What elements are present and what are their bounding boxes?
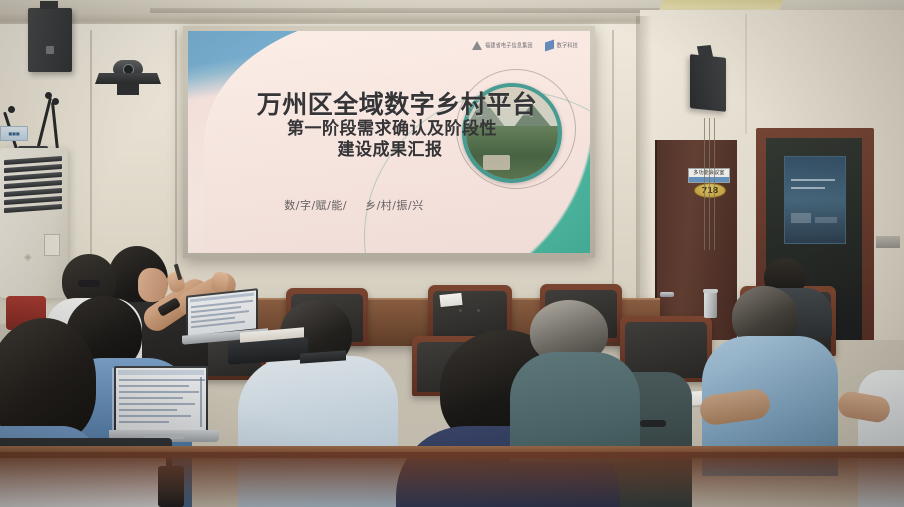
conference-table-front-body xyxy=(0,452,904,507)
triangle-logo-icon xyxy=(472,41,482,50)
phone[interactable] xyxy=(640,420,666,427)
air-conditioner: ◈ xyxy=(0,148,68,298)
wall-poster xyxy=(784,156,846,244)
slide-title-block: 万州区全域数字乡村平台 第一阶段需求确认及阶段性 建设成果汇报 xyxy=(188,91,590,161)
slide-subtitle-line-1: 第一阶段需求确认及阶段性 xyxy=(188,119,590,140)
wall-seam xyxy=(745,14,747,134)
projection-screen: 福建省电子信息集团 数字科技 万州区全域数字乡村平台 第一阶段需求确认及阶段性 … xyxy=(183,26,595,258)
logo-primary-label: 福建省电子信息集团 xyxy=(485,41,533,49)
door-handle[interactable] xyxy=(660,292,674,297)
glasses-icon xyxy=(78,280,100,287)
air-conditioner-logo-icon: ◈ xyxy=(24,252,38,262)
camera-mount xyxy=(117,83,139,95)
logo-secondary: 数字科技 xyxy=(545,41,578,50)
video-conference-camera xyxy=(95,60,161,92)
wall-switch-plate[interactable] xyxy=(876,236,900,248)
slide-title-main: 万州区全域数字乡村平台 xyxy=(188,91,590,119)
air-conditioner-sticker xyxy=(44,234,60,256)
slide-tagline-left: 数/字/赋/能/ xyxy=(284,199,347,212)
microphone-head-icon xyxy=(45,92,52,99)
paper-sheet xyxy=(439,293,462,307)
logo-secondary-label: 数字科技 xyxy=(557,41,578,49)
laptop-screen xyxy=(188,290,256,335)
slide-tagline-right: 乡/村/振/兴 xyxy=(365,199,424,212)
air-conditioner-vents xyxy=(4,158,62,212)
presentation-slide: 福建省电子信息集团 数字科技 万州区全域数字乡村平台 第一阶段需求确认及阶段性 … xyxy=(188,31,590,253)
laptop-screen-spreadsheet xyxy=(116,368,206,430)
logo-primary: 福建省电子信息集团 xyxy=(472,41,533,50)
microphone-head-icon xyxy=(8,106,15,113)
diamond-logo-icon xyxy=(545,40,554,52)
hanging-cables xyxy=(702,118,720,250)
slide-logo-bar: 福建省电子信息集团 数字科技 xyxy=(472,41,578,50)
conference-room-photo: 福建省电子信息集团 数字科技 万州区全域数字乡村平台 第一阶段需求确认及阶段性 … xyxy=(0,0,904,507)
equipment-label-tag: ■■■ xyxy=(0,126,28,141)
wall-seam xyxy=(612,30,614,315)
wall-speaker-right xyxy=(690,54,726,112)
microphone-head-icon xyxy=(52,98,59,105)
wall-speaker-left xyxy=(28,8,72,72)
slide-tagline: 数/字/赋/能/ 乡/村/振/兴 xyxy=(188,197,590,213)
wall-corner-shadow xyxy=(636,16,652,336)
slide-subtitle-line-2: 建设成果汇报 xyxy=(188,140,590,161)
water-cup xyxy=(704,292,717,318)
